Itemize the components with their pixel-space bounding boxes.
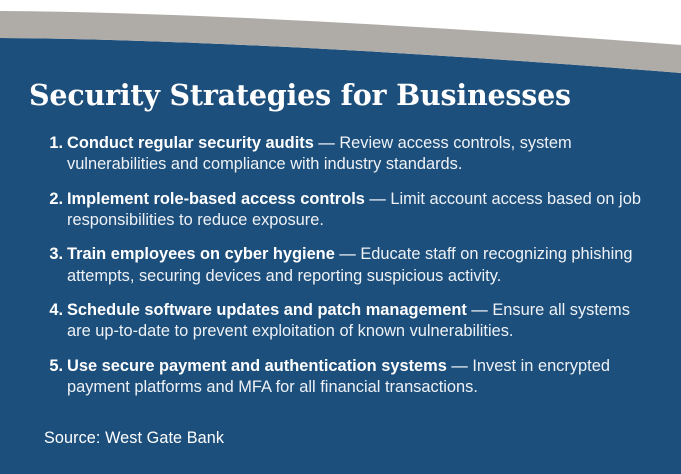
list-item-lead: Use secure payment and authentication sy… xyxy=(67,357,447,375)
list-item-number: 5. xyxy=(44,356,63,377)
list-item-dash: — xyxy=(335,245,361,263)
list-item: 3.Train employees on cyber hygiene — Edu… xyxy=(44,244,658,287)
strategy-list: 1.Conduct regular security audits — Revi… xyxy=(44,133,658,398)
list-item-number: 2. xyxy=(44,189,63,210)
list-item-lead: Conduct regular security audits xyxy=(67,134,314,152)
list-item-dash: — xyxy=(365,190,391,208)
list-item: 5.Use secure payment and authentication … xyxy=(44,356,658,399)
page-title: Security Strategies for Businesses xyxy=(29,81,571,111)
list-item-lead: Train employees on cyber hygiene xyxy=(67,245,335,263)
list-item: 4.Schedule software updates and patch ma… xyxy=(44,300,658,343)
list-item: 2.Implement role-based access controls —… xyxy=(44,189,658,232)
list-item-number: 1. xyxy=(44,133,63,154)
list-item-dash: — xyxy=(314,134,340,152)
infographic-card: Security Strategies for Businesses 1.Con… xyxy=(0,0,681,474)
card-content: Security Strategies for Businesses 1.Con… xyxy=(0,0,681,474)
list-item-lead: Schedule software updates and patch mana… xyxy=(67,301,467,319)
list-item: 1.Conduct regular security audits — Revi… xyxy=(44,133,658,176)
list-item-lead: Implement role-based access controls xyxy=(67,190,365,208)
list-item-dash: — xyxy=(447,357,473,375)
list-item-number: 3. xyxy=(44,244,63,265)
source-attribution: Source: West Gate Bank xyxy=(44,429,224,448)
list-item-number: 4. xyxy=(44,300,63,321)
list-item-dash: — xyxy=(467,301,493,319)
